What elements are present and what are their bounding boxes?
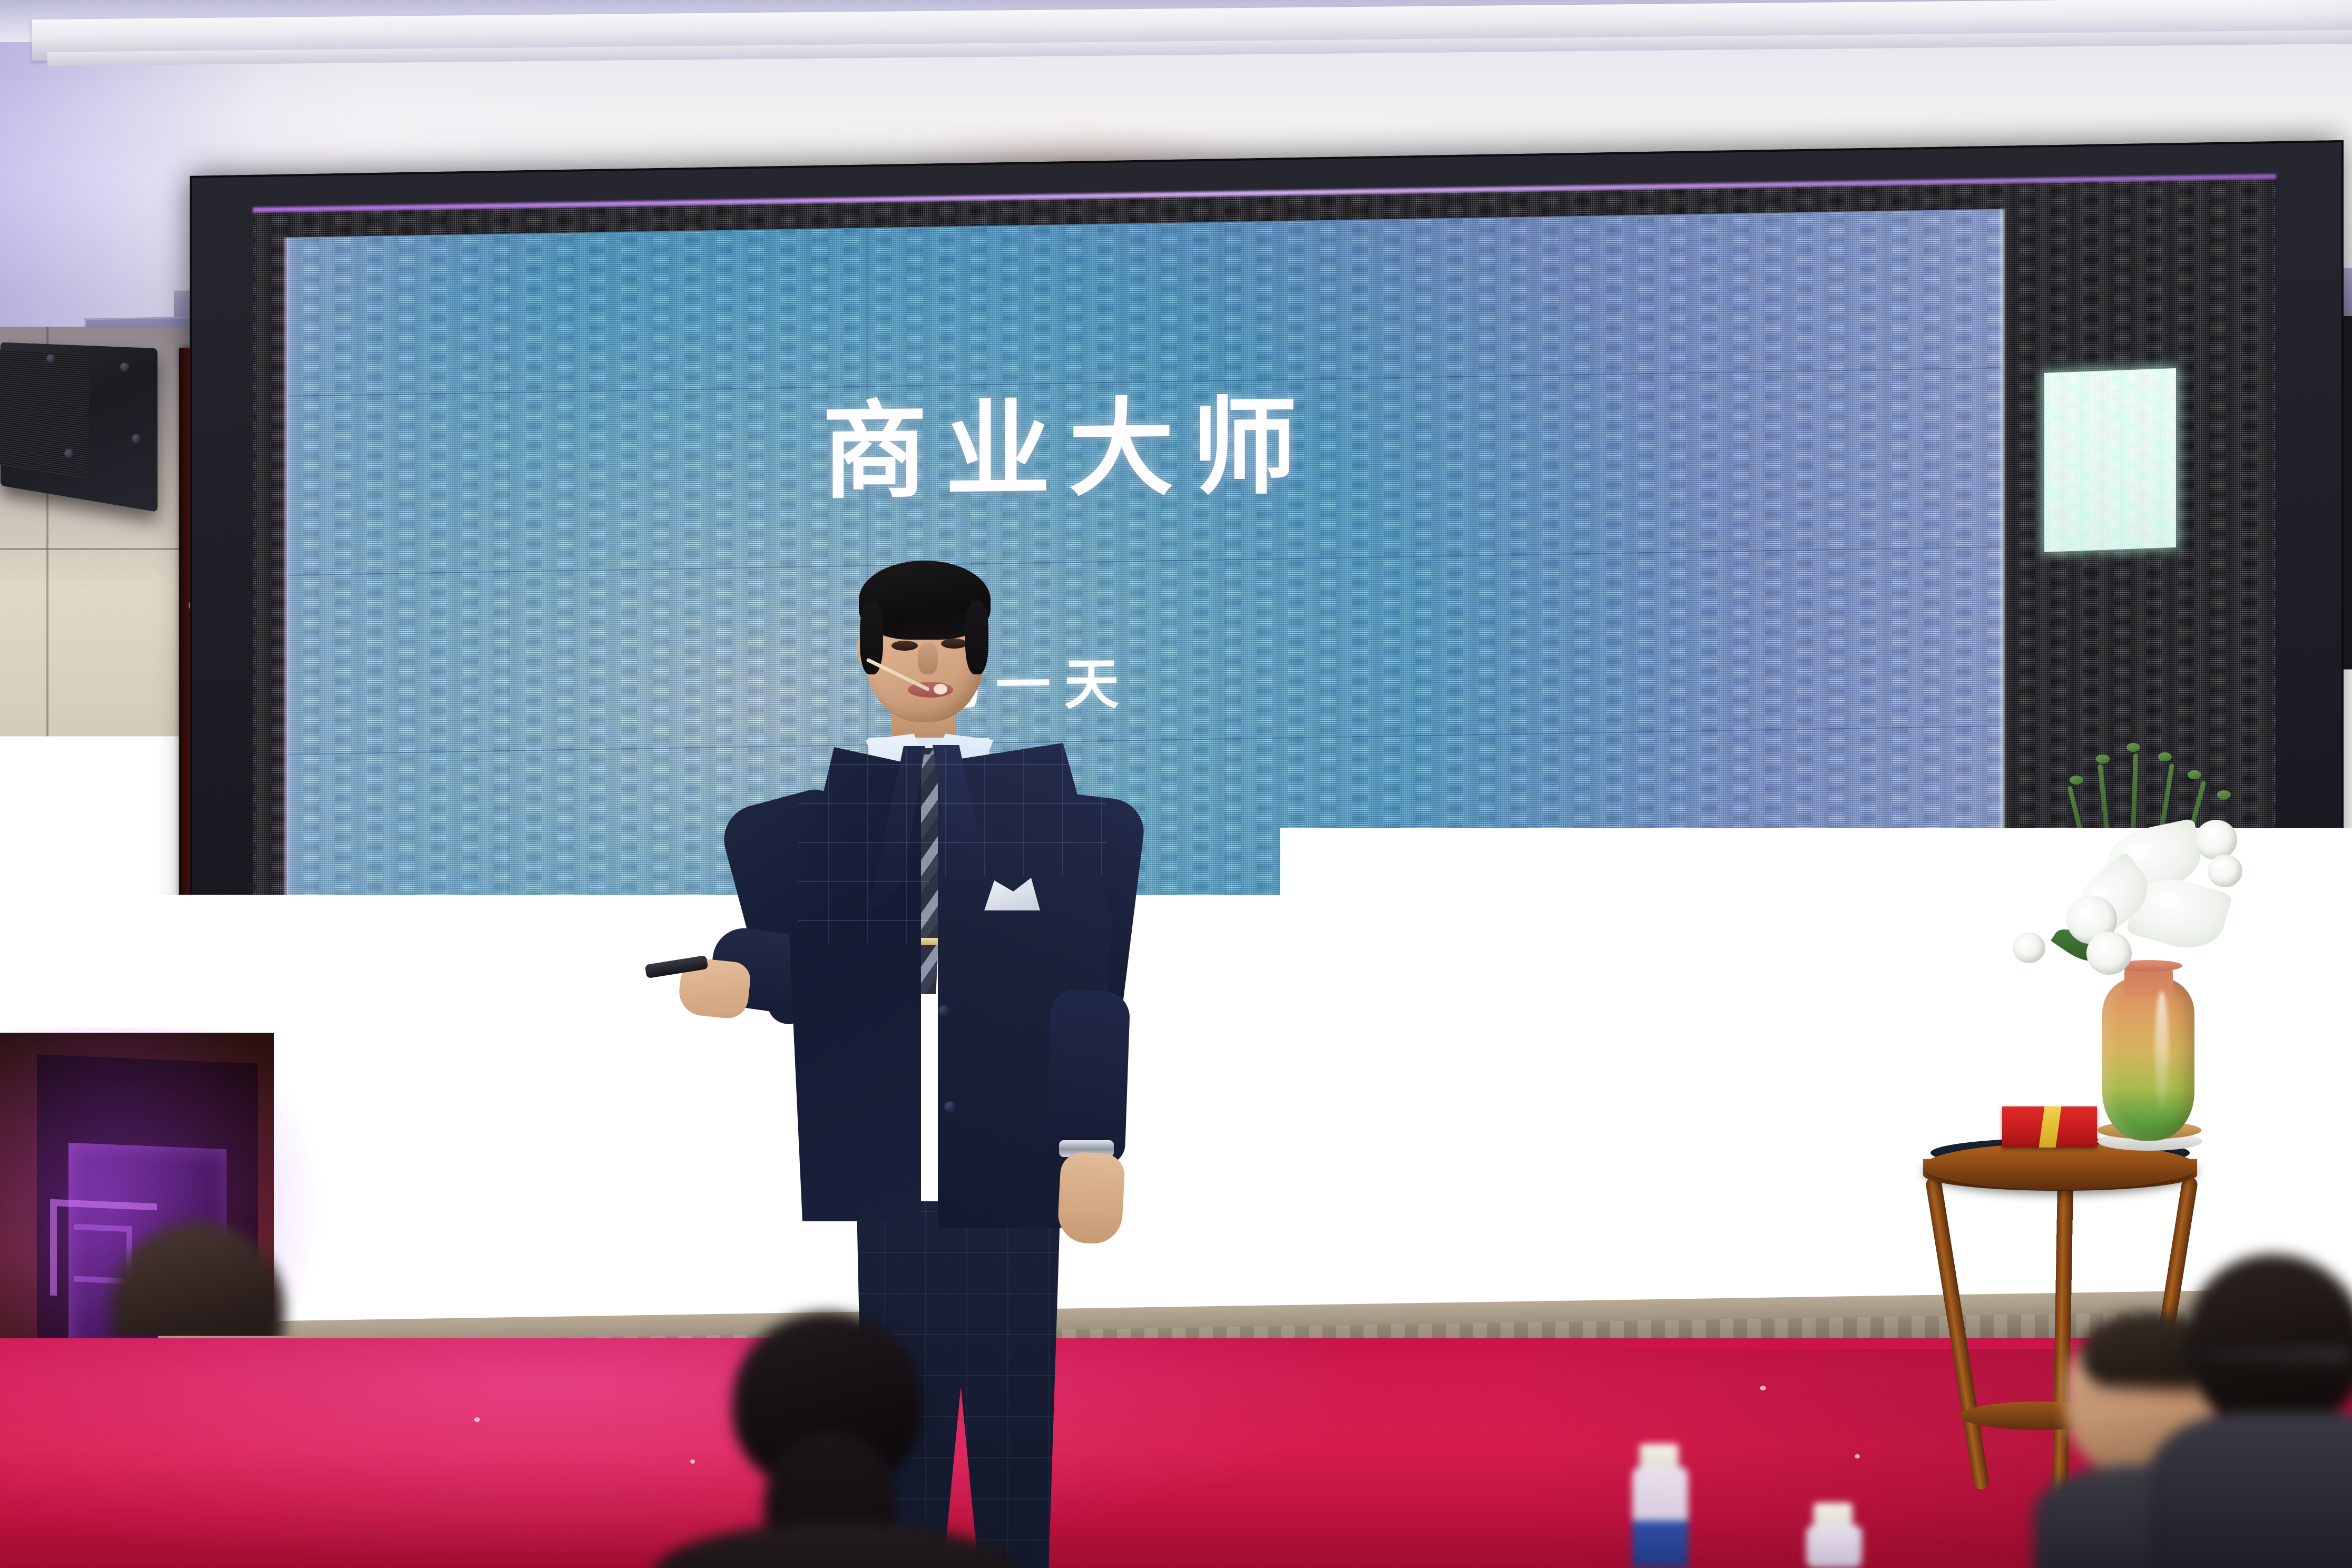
jacket-button <box>944 1101 956 1113</box>
presenter-nose <box>918 643 938 674</box>
flower-bud <box>2070 776 2083 785</box>
audience-shoulders <box>2150 1412 2352 1568</box>
presenter-eye-right <box>941 639 967 649</box>
audience-member-left <box>47 1222 374 1568</box>
audience-member-far-right <box>2165 1254 2352 1568</box>
speaker-screw <box>120 362 129 371</box>
vase-highlight <box>2155 991 2169 1112</box>
flower-bud <box>2096 754 2110 763</box>
water-bottle-1 <box>1628 1444 1696 1568</box>
flower-vase <box>2102 977 2194 1141</box>
led-right-edge-glow <box>1998 209 2004 1231</box>
slide-title: 商业大师 <box>822 361 1315 519</box>
rose-flower <box>2208 855 2242 887</box>
presenter-hair-side-right <box>965 601 988 674</box>
led-violet-gradient-right <box>1212 209 2002 1244</box>
led-violet-gradient-left <box>287 232 582 1259</box>
audience-shoulders <box>653 1523 1022 1568</box>
carpet-lint <box>1855 1454 1860 1458</box>
carpet-lint <box>1760 1386 1766 1390</box>
speaker-screw <box>132 434 141 443</box>
led-defective-white-module <box>2044 368 2176 552</box>
flower-bud <box>2158 752 2172 761</box>
headset-microphone-capsule <box>934 684 947 694</box>
eyeglasses <box>2176 1349 2350 1361</box>
jacket-button <box>938 1005 949 1017</box>
speaker-screw <box>64 449 73 458</box>
presenter-eye-left <box>891 641 918 651</box>
water-bottle-2 <box>1802 1503 1869 1568</box>
bottle-cap <box>1640 1444 1679 1469</box>
rose-flower <box>2195 820 2237 860</box>
pa-speaker-grille <box>0 349 89 478</box>
bottle-cap <box>1814 1503 1853 1527</box>
carpet-lint <box>474 1417 480 1422</box>
photograph-scene: 商业大师 第一天 创新 <box>0 0 2352 1568</box>
audience-shoulders <box>32 1470 390 1568</box>
flower-bud <box>2126 743 2140 752</box>
audience-member-center-left <box>674 1312 1001 1568</box>
audience-head <box>2187 1254 2352 1428</box>
flower-bud <box>2188 770 2201 779</box>
flower-bud <box>2217 790 2231 799</box>
speaker-screw <box>46 354 55 363</box>
bottle-body <box>1806 1525 1862 1568</box>
rose-flower <box>2086 932 2132 975</box>
rose-flower <box>2013 933 2045 963</box>
audience-member-center <box>1033 1222 1433 1568</box>
bottle-label <box>1632 1521 1688 1568</box>
